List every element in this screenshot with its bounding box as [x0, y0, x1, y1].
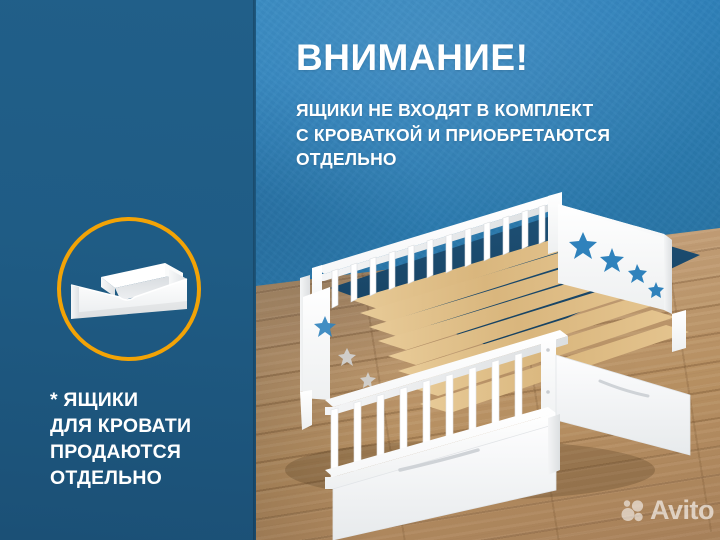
- subheading-line-3: ОТДЕЛЬНО: [296, 147, 688, 172]
- subheading-line-1: ЯЩИКИ НЕ ВХОДЯТ В КОМПЛЕКТ: [296, 98, 688, 123]
- note-line-1: * ЯЩИКИ: [50, 387, 191, 413]
- avito-watermark: Avito: [620, 497, 714, 524]
- drawer-box-icon: [65, 257, 193, 327]
- page-title: ВНИМАНИЕ!: [296, 39, 528, 78]
- avito-dots-icon: [620, 498, 646, 524]
- drawer-badge: [57, 217, 201, 361]
- product-banner: * ЯЩИКИ ДЛЯ КРОВАТИ ПРОДАЮТСЯ ОТДЕЛЬНО В…: [0, 0, 720, 540]
- panel-edge-shadow: [253, 0, 256, 540]
- note-line-2: ДЛЯ КРОВАТИ: [50, 413, 191, 439]
- note-line-3: ПРОДАЮТСЯ: [50, 439, 191, 465]
- subheading: ЯЩИКИ НЕ ВХОДЯТ В КОМПЛЕКТ С КРОВАТКОЙ И…: [296, 98, 688, 172]
- note-line-4: ОТДЕЛЬНО: [50, 465, 191, 491]
- left-info-panel: * ЯЩИКИ ДЛЯ КРОВАТИ ПРОДАЮТСЯ ОТДЕЛЬНО: [0, 0, 256, 540]
- subheading-line-2: С КРОВАТКОЙ И ПРИОБРЕТАЮТСЯ: [296, 123, 688, 148]
- drawers-sold-separately-note: * ЯЩИКИ ДЛЯ КРОВАТИ ПРОДАЮТСЯ ОТДЕЛЬНО: [50, 387, 191, 491]
- avito-watermark-label: Avito: [650, 497, 714, 524]
